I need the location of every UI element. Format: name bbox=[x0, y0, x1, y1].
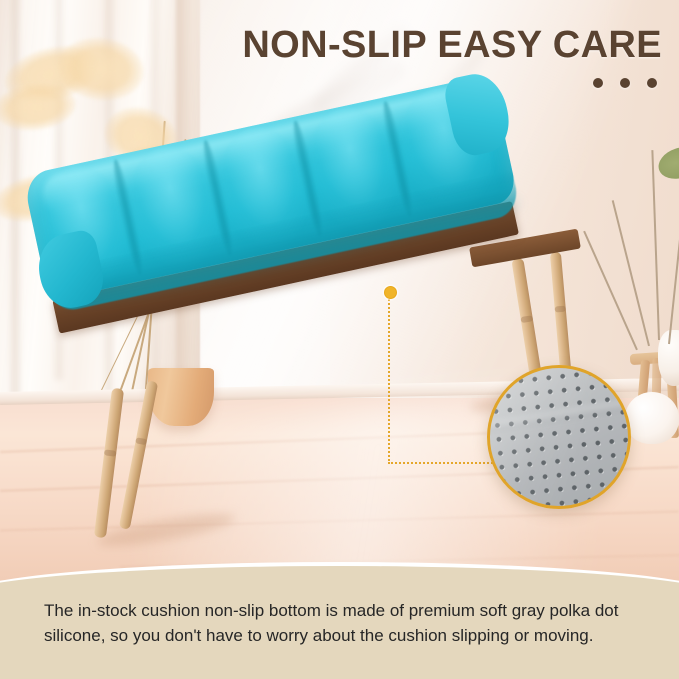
caption-panel: The in-stock cushion non-slip bottom is … bbox=[0, 562, 679, 679]
planter-pot bbox=[148, 368, 214, 426]
leg-ring bbox=[555, 306, 566, 313]
callout-marker-dot bbox=[384, 286, 397, 299]
product-feature-poster: NON-SLIP EASY CARE The in-stock cushion … bbox=[0, 0, 679, 679]
leg-ring bbox=[520, 315, 533, 323]
headline-dot bbox=[647, 78, 657, 88]
round-vase bbox=[625, 392, 679, 444]
callout-line-vertical bbox=[388, 296, 390, 464]
page-title: NON-SLIP EASY CARE bbox=[0, 24, 662, 67]
non-slip-bottom-magnifier bbox=[487, 365, 631, 509]
leg-ring bbox=[104, 449, 117, 456]
leg-ring bbox=[135, 437, 147, 445]
headline-dot bbox=[593, 78, 603, 88]
headline-dot-group bbox=[593, 78, 657, 88]
headline-dot bbox=[620, 78, 630, 88]
caption-text: The in-stock cushion non-slip bottom is … bbox=[44, 598, 644, 648]
